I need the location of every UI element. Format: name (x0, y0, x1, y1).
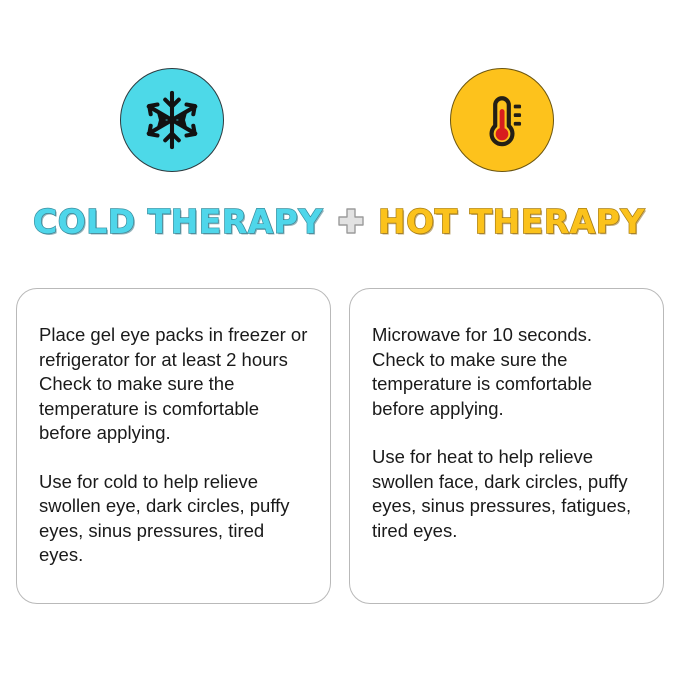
icon-row (0, 64, 679, 176)
cold-therapy-badge (120, 68, 224, 172)
snowflake-icon (141, 89, 203, 151)
cold-instructions-paragraph: Place gel eye packs in freezer or refrig… (39, 323, 308, 446)
hot-benefits-paragraph: Use for heat to help relieve swollen fac… (372, 445, 641, 543)
thermometer-icon (473, 91, 531, 149)
cold-therapy-card: Place gel eye packs in freezer or refrig… (16, 288, 331, 604)
cold-benefits-paragraph: Use for cold to help relieve swollen eye… (39, 470, 308, 568)
hot-therapy-title: HOT THERAPY (378, 196, 645, 248)
headline-row: COLD THERAPY HOT THERAPY (0, 196, 679, 252)
plus-separator-icon (334, 202, 368, 242)
cold-therapy-title: COLD THERAPY (33, 196, 323, 248)
hot-therapy-badge (450, 68, 554, 172)
hot-therapy-card: Microwave for 10 seconds. Check to make … (349, 288, 664, 604)
hot-instructions-paragraph: Microwave for 10 seconds. Check to make … (372, 323, 641, 421)
